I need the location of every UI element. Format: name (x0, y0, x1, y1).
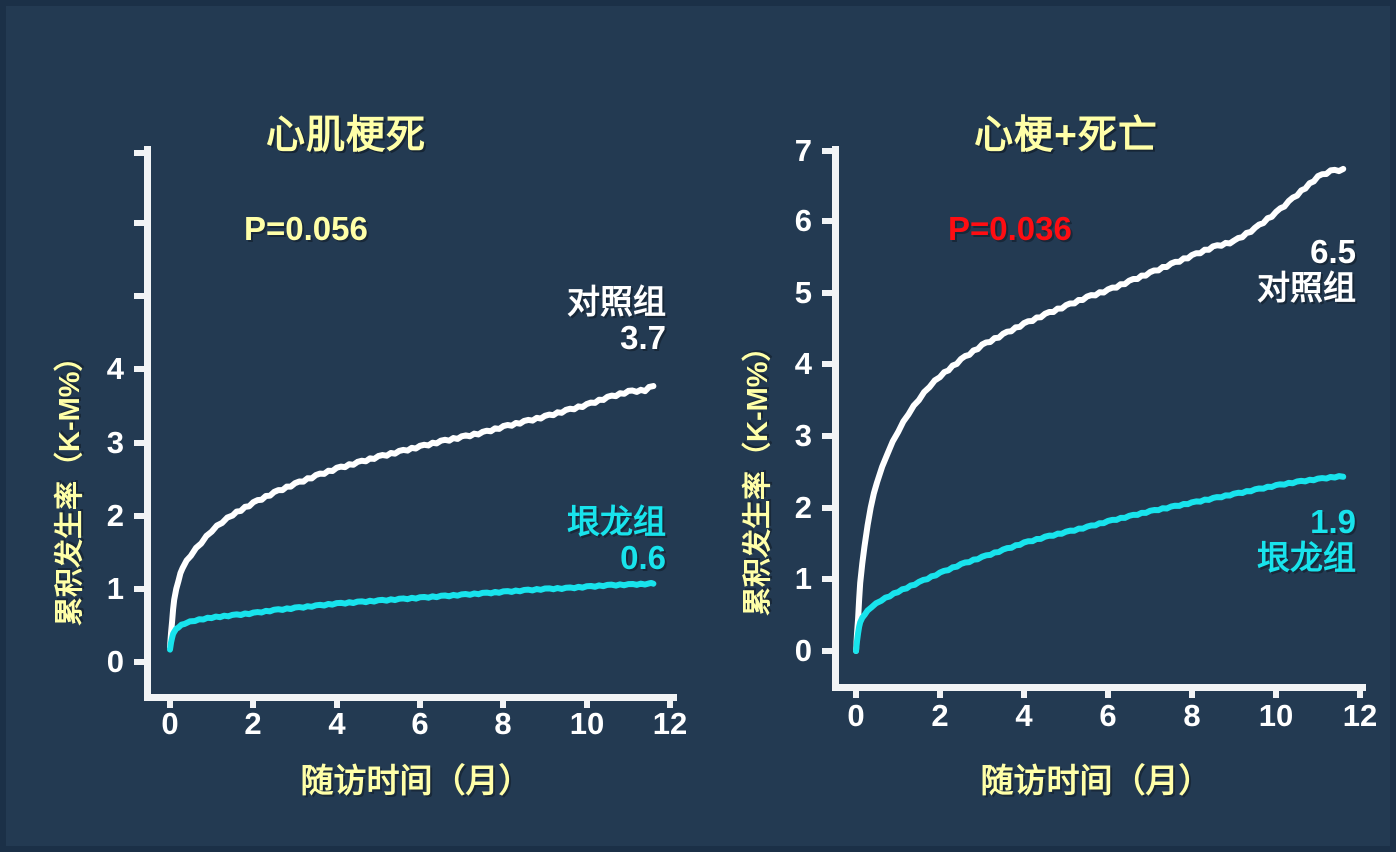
chart-panel-left: 心肌梗死 P=0.056 累积发生率（K-M%） 随访时间（月） 0 1 2 3… (6, 6, 706, 852)
drug-name-right: 垠龙组 (1168, 540, 1356, 576)
control-name-left: 对照组 (446, 284, 666, 320)
drug-value-left: 0.6 (446, 540, 666, 576)
series-label-control-right: 6.5 对照组 (1168, 234, 1356, 305)
control-value-right: 6.5 (1168, 234, 1356, 270)
drug-value-right: 1.9 (1168, 504, 1356, 540)
control-name-right: 对照组 (1168, 270, 1356, 306)
series-label-control-left: 对照组 3.7 (446, 284, 666, 355)
control-value-left: 3.7 (446, 320, 666, 356)
km-curves-right (706, 6, 1396, 852)
drug-name-left: 垠龙组 (446, 504, 666, 540)
km-curves-left (6, 6, 706, 852)
chart-panel-right: 心梗+死亡 P=0.036 累积发生率（K-M%） 随访时间（月） 0 1 2 … (706, 6, 1396, 852)
slide-canvas: 心肌梗死 P=0.056 累积发生率（K-M%） 随访时间（月） 0 1 2 3… (0, 0, 1396, 852)
series-label-drug-left: 垠龙组 0.6 (446, 504, 666, 575)
km-curve-drug (170, 583, 653, 650)
series-label-drug-right: 1.9 垠龙组 (1168, 504, 1356, 575)
